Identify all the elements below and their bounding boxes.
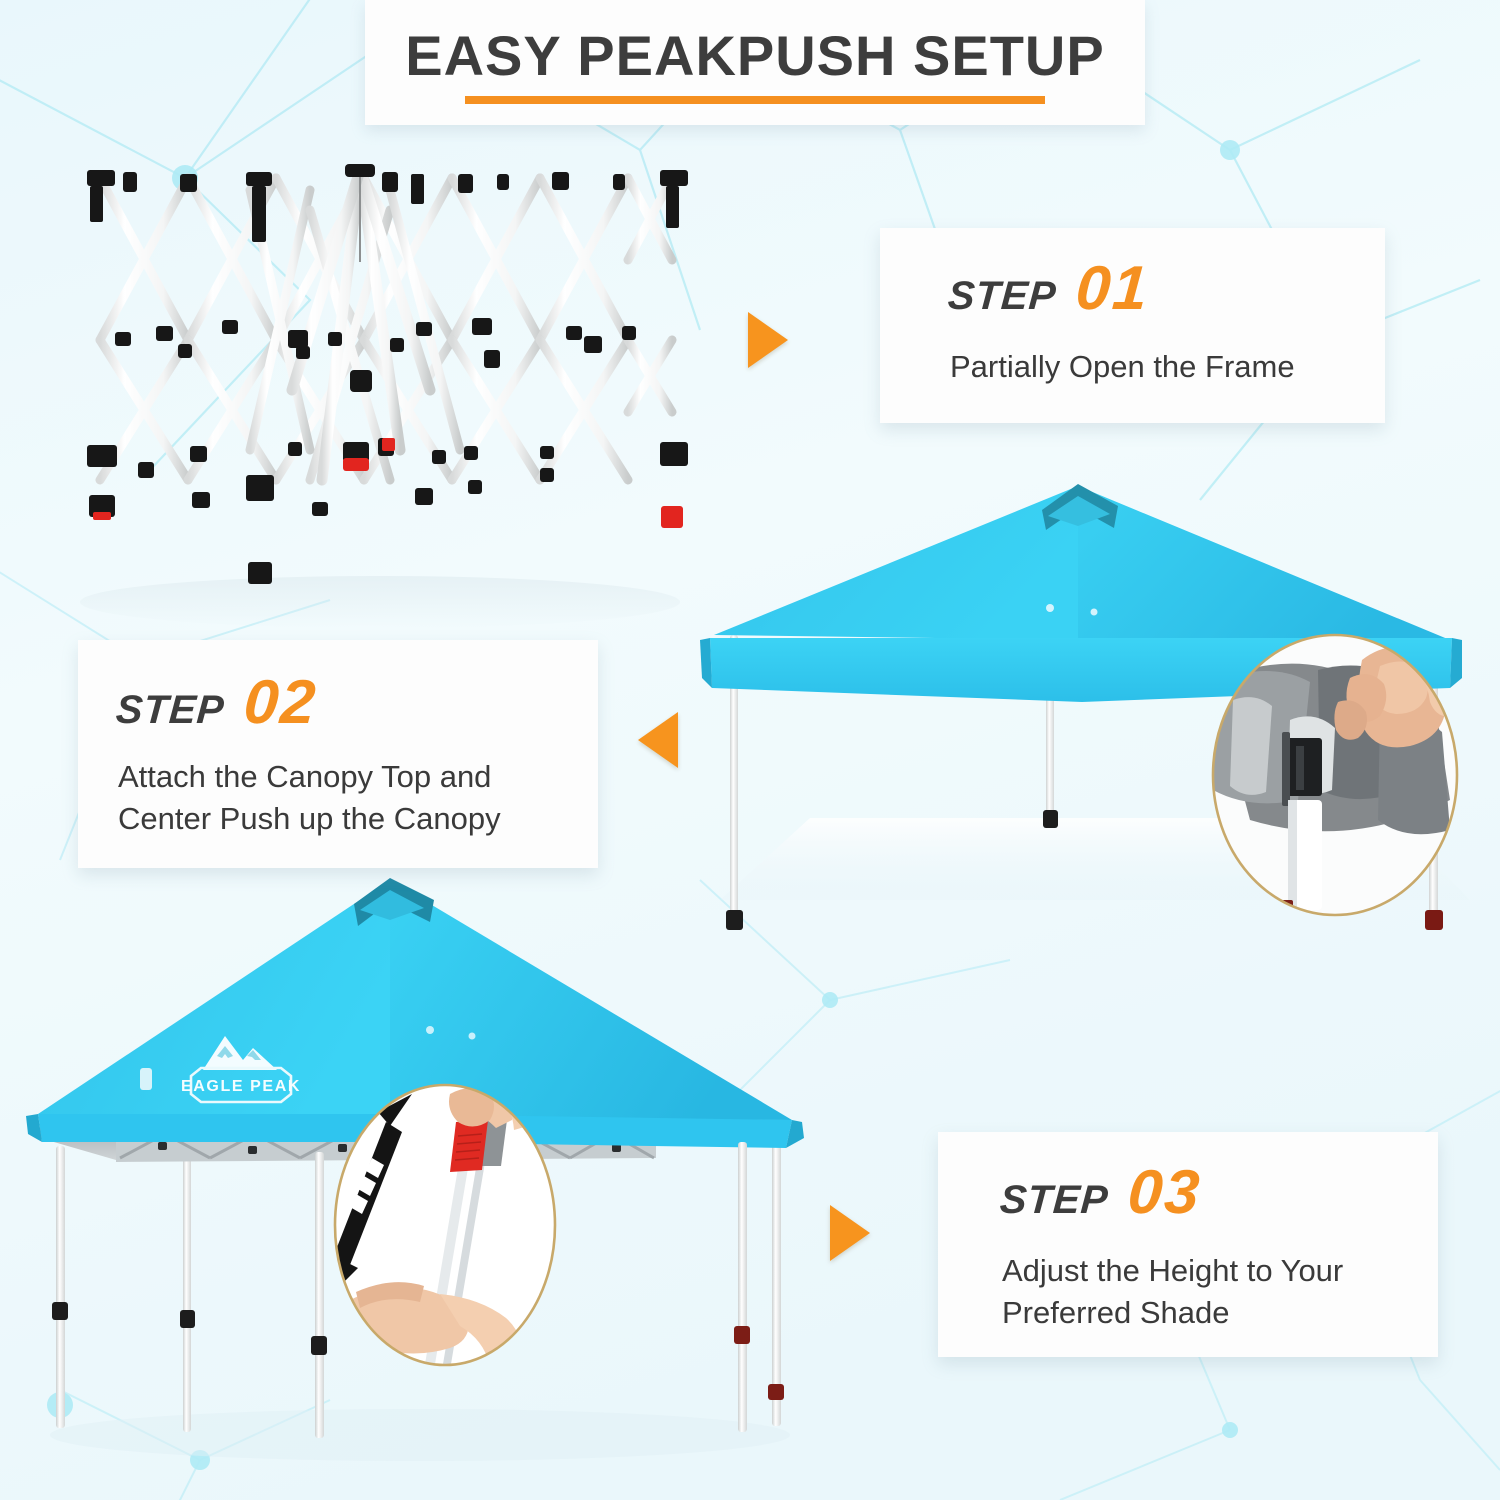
page-title-card: EASY PEAKPUSH SETUP — [365, 0, 1145, 125]
step-card-1: STEP 01 Partially Open the Frame — [880, 228, 1385, 423]
step-1-heading: STEP 01 — [880, 228, 1385, 320]
step-2-word: STEP — [115, 690, 226, 730]
page-title: EASY PEAKPUSH SETUP — [405, 28, 1104, 84]
step-1-number: 01 — [1074, 258, 1151, 320]
arrow-left-icon-step-2 — [638, 712, 678, 768]
brand-logo-text: EAGLE PEAK — [181, 1078, 301, 1095]
illustration-folded-canopy-frame — [60, 150, 700, 630]
illustration-full-canopy-height-adjust: EAGLE PEAK — [20, 870, 850, 1470]
step-3-description-line-2: Preferred Shade — [1002, 1292, 1438, 1334]
step-2-description-line-2: Center Push up the Canopy — [118, 798, 598, 840]
step-2-heading: STEP 02 — [78, 640, 598, 734]
title-underline — [465, 96, 1045, 104]
step-1-description: Partially Open the Frame — [880, 320, 1385, 388]
step-2-description-line-1: Attach the Canopy Top and — [118, 756, 598, 798]
step-card-3: STEP 03 Adjust the Height to Your Prefer… — [938, 1132, 1438, 1357]
arrow-right-icon-step-3 — [830, 1205, 870, 1261]
step-1-word: STEP — [947, 276, 1058, 316]
red-push-button — [450, 1120, 507, 1172]
step-3-number: 03 — [1126, 1162, 1203, 1224]
step-2-description: Attach the Canopy Top and Center Push up… — [78, 734, 598, 840]
arrow-right-icon-step-1 — [748, 312, 788, 368]
step-card-2: STEP 02 Attach the Canopy Top and Center… — [78, 640, 598, 868]
step-3-heading: STEP 03 — [938, 1132, 1438, 1224]
step-2-number: 02 — [242, 672, 319, 734]
infographic-stage: EAGLE PEAK — [0, 0, 1500, 1500]
step-3-description-line-1: Adjust the Height to Your — [1002, 1250, 1438, 1292]
step-3-word: STEP — [999, 1180, 1110, 1220]
step-3-description: Adjust the Height to Your Preferred Shad… — [938, 1224, 1438, 1334]
